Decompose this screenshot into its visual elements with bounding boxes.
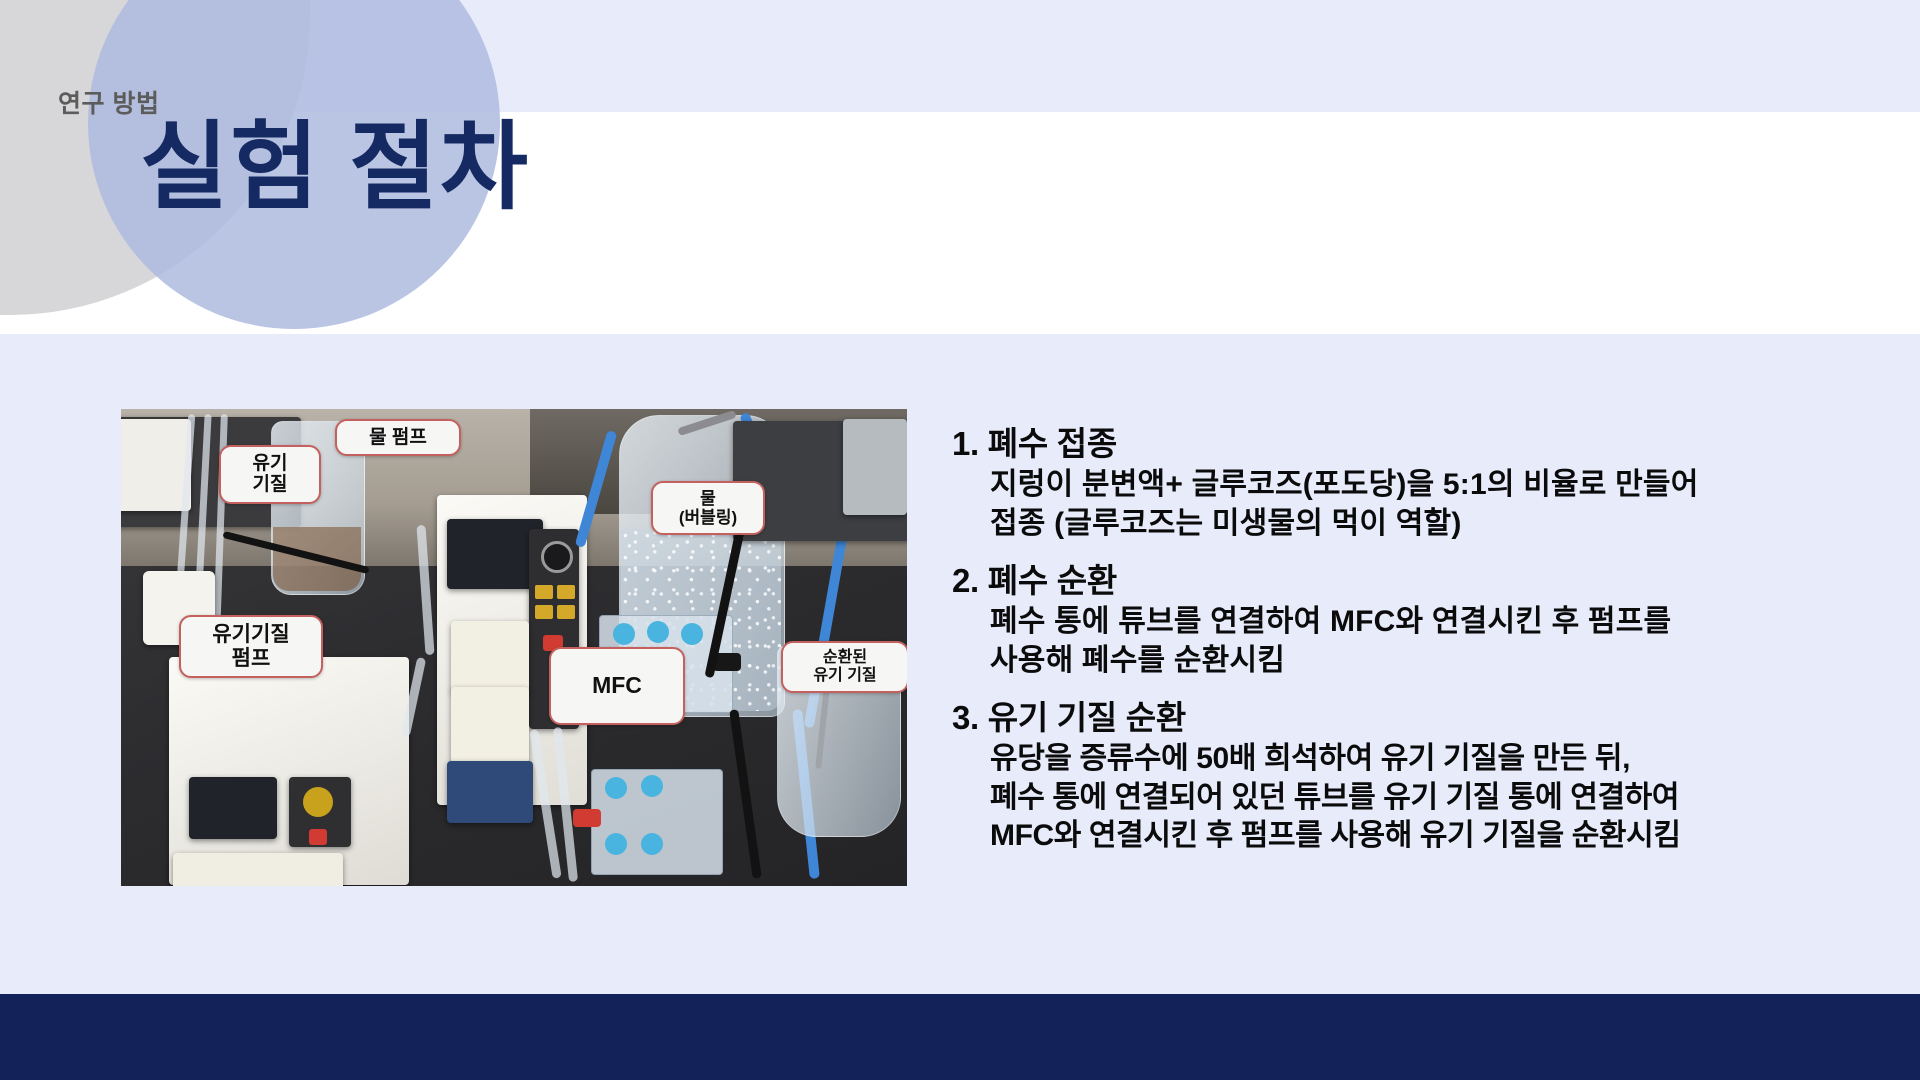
step-number: 1. xyxy=(952,425,979,462)
photo-mfc-port-u2 xyxy=(647,621,669,643)
photo-water-pump-key-1 xyxy=(535,585,553,599)
presentation-slide: 연구 방법 실험 절차 xyxy=(0,0,1920,1080)
photo-mfc-port-l2 xyxy=(641,775,663,797)
photo-water-pump-key-3 xyxy=(535,605,553,619)
experiment-setup-photo: 유기 기질 물 펌프 물 (버블링) 유기기질 펌프 MFC 순환된 유기 기질 xyxy=(121,409,907,886)
procedure-step: 1. 폐수 접종 지렁이 분변액+ 글루코즈(포도당)을 5:1의 비율로 만들… xyxy=(952,424,1882,543)
photo-water-pump-key-2 xyxy=(557,585,575,599)
step-title: 폐수 순환 xyxy=(988,562,1117,599)
procedure-step: 2. 폐수 순환 폐수 통에 튜브를 연결하여 MFC와 연결시킨 후 펌프를 … xyxy=(952,561,1882,680)
step-line: MFC와 연결시킨 후 펌프를 사용해 유기 기질을 순환시킴 xyxy=(990,817,1882,855)
photo-organic-substrate-pump-body xyxy=(169,657,409,885)
photo-mfc-port-l3 xyxy=(605,833,627,855)
callout-mfc: MFC xyxy=(549,647,685,725)
step-title: 유기 기질 순환 xyxy=(988,699,1186,736)
page-title: 실험 절차 xyxy=(140,118,530,219)
photo-left-white-panel xyxy=(121,419,191,511)
photo-water-pump-cartridge-bottom xyxy=(451,687,529,763)
step-description: 폐수 통에 튜브를 연결하여 MFC와 연결시킨 후 펌프를 사용해 폐수를 순… xyxy=(990,603,1882,680)
photo-mfc-port-l1 xyxy=(605,777,627,799)
step-heading: 2. 폐수 순환 xyxy=(952,561,1882,601)
photo-water-pump-base xyxy=(447,761,533,823)
callout-water-bubbling: 물 (버블링) xyxy=(651,481,765,535)
photo-mfc-port-u3 xyxy=(681,623,703,645)
step-heading: 1. 폐수 접종 xyxy=(952,424,1882,464)
step-heading: 3. 유기 기질 순환 xyxy=(952,698,1882,738)
procedure-steps-list: 1. 폐수 접종 지렁이 분변액+ 글루코즈(포도당)을 5:1의 비율로 만들… xyxy=(952,424,1882,855)
step-description: 지렁이 분변액+ 글루코즈(포도당)을 5:1의 비율로 만들어 접종 (글루코… xyxy=(990,466,1882,543)
callout-organic-substrate: 유기 기질 xyxy=(219,445,321,504)
callout-circulated-organic-substrate: 순환된 유기 기질 xyxy=(781,641,907,693)
step-number: 3. xyxy=(952,699,979,736)
step-line: 사용해 폐수를 순환시킴 xyxy=(990,642,1882,680)
photo-water-pump-dial xyxy=(541,541,573,573)
photo-right-metal-stand xyxy=(843,419,907,515)
step-number: 2. xyxy=(952,562,979,599)
step-line: 폐수 통에 튜브를 연결하여 MFC와 연결시킨 후 펌프를 xyxy=(990,603,1882,641)
procedure-step: 3. 유기 기질 순환 유당을 증류수에 50배 희석하여 유기 기질을 만든 … xyxy=(952,698,1882,855)
callout-organic-substrate-pump: 유기기질 펌프 xyxy=(179,615,323,678)
callout-water-pump: 물 펌프 xyxy=(335,419,461,456)
step-line: 유당을 증류수에 50배 희석하여 유기 기질을 만든 뒤, xyxy=(990,740,1882,778)
photo-water-pump-cartridge-top xyxy=(451,621,529,693)
slide-footer-bar xyxy=(0,994,1920,1080)
step-line: 지렁이 분변액+ 글루코즈(포도당)을 5:1의 비율로 만들어 xyxy=(990,466,1882,504)
step-line: 접종 (글루코즈는 미생물의 먹이 역할) xyxy=(990,505,1882,543)
photo-organic-pump-cartridge xyxy=(173,853,343,886)
photo-organic-pump-display xyxy=(189,777,277,839)
photo-mfc-clip-red-lower xyxy=(573,809,601,827)
photo-water-pump-key-4 xyxy=(557,605,575,619)
photo-mfc-port-l4 xyxy=(641,833,663,855)
step-title: 폐수 접종 xyxy=(988,425,1117,462)
step-line: 폐수 통에 연결되어 있던 튜브를 유기 기질 통에 연결하여 xyxy=(990,779,1882,817)
step-description: 유당을 증류수에 50배 희석하여 유기 기질을 만든 뒤, 폐수 통에 연결되… xyxy=(990,740,1882,855)
photo-organic-pump-dial xyxy=(303,787,333,817)
photo-mfc-port-u1 xyxy=(613,623,635,645)
photo-organic-pump-power-button xyxy=(309,829,327,845)
